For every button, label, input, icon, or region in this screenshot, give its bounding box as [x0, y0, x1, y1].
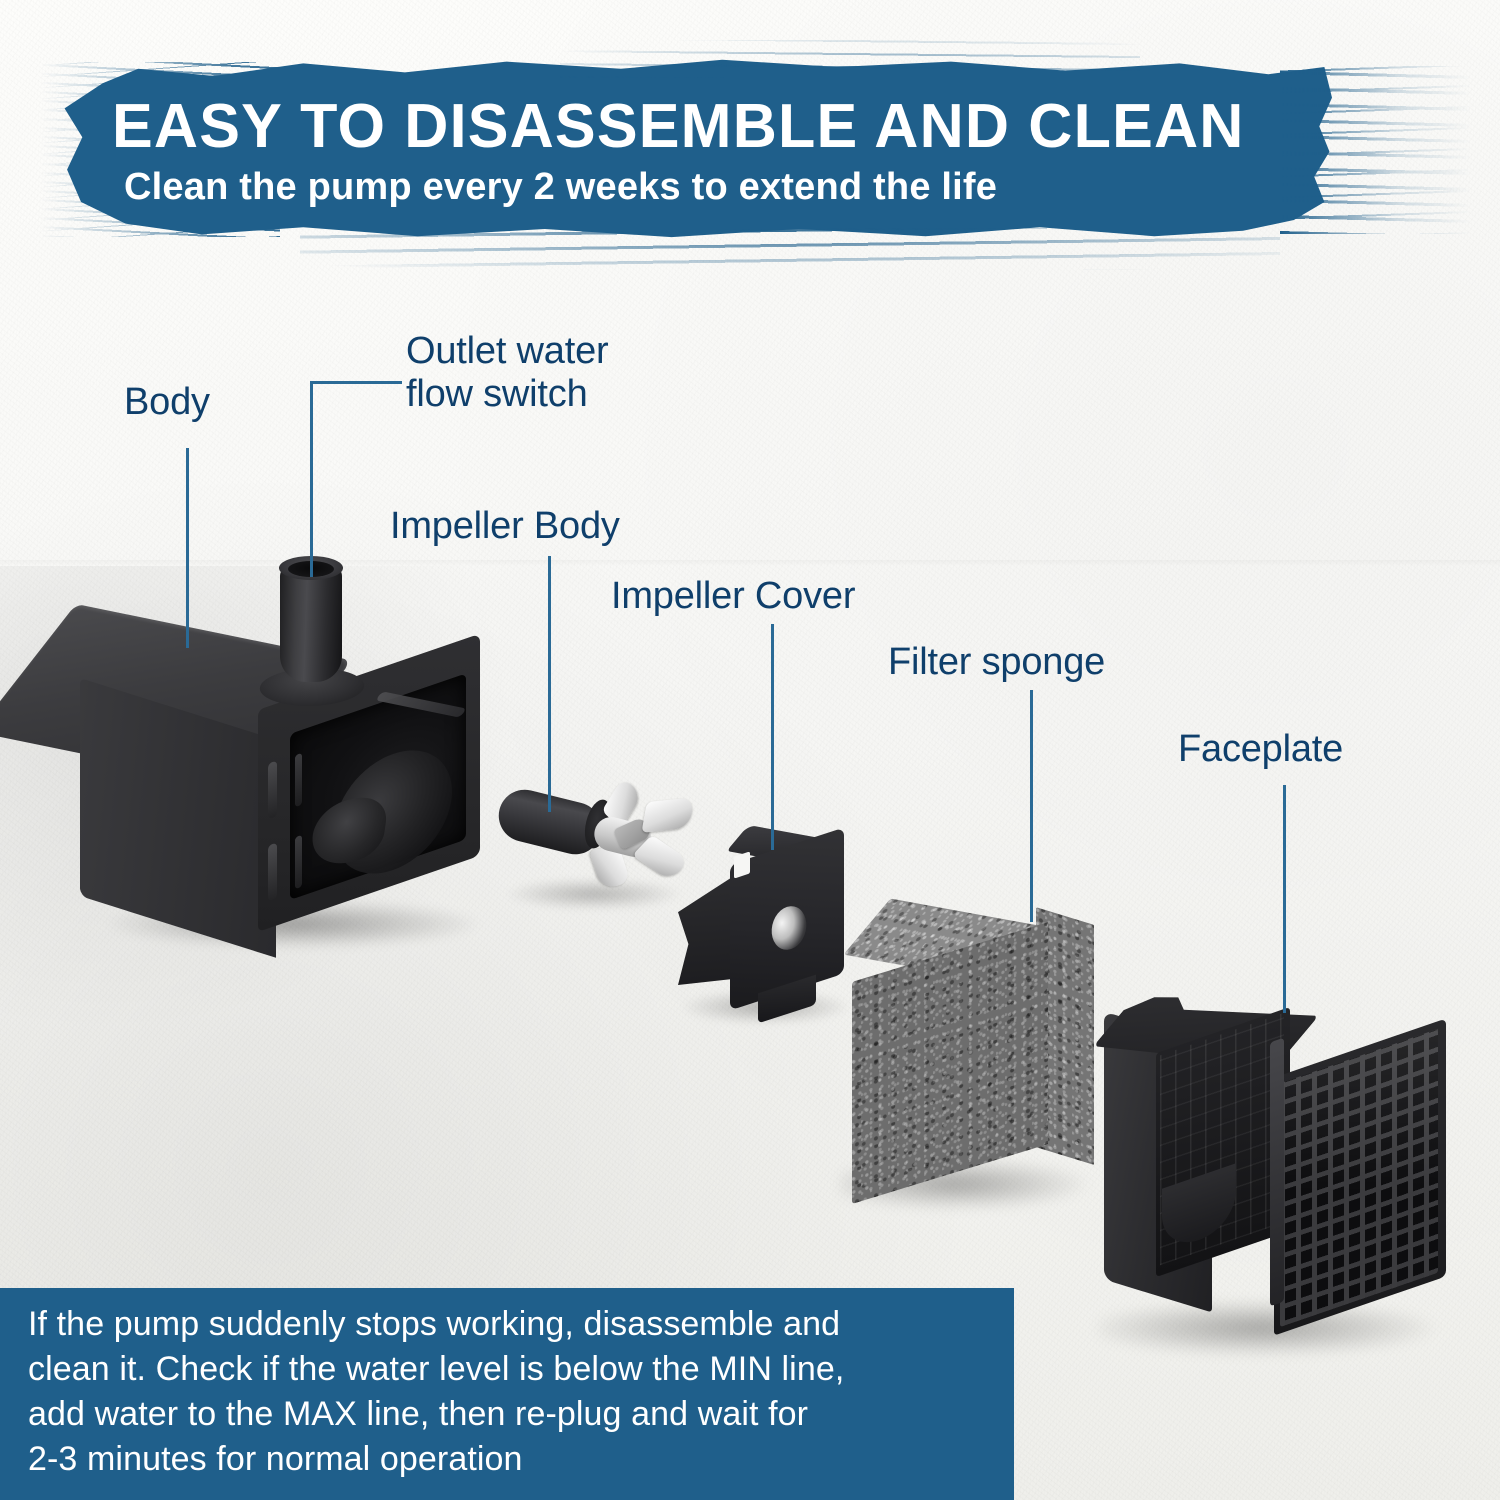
product-filter-sponge — [840, 900, 1105, 1230]
callout-label-filter-sponge: Filter sponge — [888, 641, 1105, 684]
impeller-cover-side-tab — [678, 875, 736, 998]
brush-spatter-bottom — [300, 228, 1280, 270]
pump-body-rib-upper — [295, 753, 302, 807]
brush-spatter-top — [560, 40, 1140, 78]
faceplate-front-rim — [1270, 1038, 1284, 1307]
leader-line-body — [186, 448, 189, 648]
banner-title: EASY TO DISASSEMBLE AND CLEAN — [112, 96, 1383, 158]
callout-label-outlet-flow-switch: Outlet water flow switch — [406, 330, 608, 415]
banner-subtitle: Clean the pump every 2 weeks to extend t… — [124, 168, 1324, 208]
leader-line-filter-sponge — [1030, 690, 1033, 922]
leader-line-outlet — [310, 381, 313, 577]
pump-body-slot-lower — [268, 842, 277, 901]
pump-body-rib-lower — [295, 835, 302, 889]
product-impeller-cover — [672, 840, 852, 1030]
product-faceplate — [1098, 1000, 1448, 1370]
product-impeller-body — [498, 786, 698, 926]
outlet-nozzle — [280, 566, 342, 682]
leader-line-faceplate — [1283, 785, 1286, 1013]
leader-line-outlet-elbow — [310, 381, 402, 384]
pump-body-slot-upper — [268, 760, 277, 819]
callout-label-impeller-cover: Impeller Cover — [611, 575, 855, 618]
leader-line-impeller-body — [548, 556, 551, 812]
callout-label-impeller-body: Impeller Body — [390, 505, 620, 548]
footer-info-text: If the pump suddenly stops working, disa… — [28, 1302, 990, 1482]
faceplate-shadow — [1098, 1300, 1438, 1356]
header-banner: EASY TO DISASSEMBLE AND CLEAN Clean the … — [0, 0, 1500, 290]
product-pump-body — [72, 604, 492, 934]
impeller-blade — [641, 797, 694, 833]
callout-label-body: Body — [124, 381, 210, 424]
callout-label-faceplate: Faceplate — [1178, 728, 1343, 771]
infographic-canvas: EASY TO DISASSEMBLE AND CLEAN Clean the … — [0, 0, 1500, 1500]
footer-info-box: If the pump suddenly stops working, disa… — [0, 1288, 1014, 1500]
impeller-shadow — [504, 878, 684, 910]
leader-line-impeller-cover — [771, 624, 774, 850]
